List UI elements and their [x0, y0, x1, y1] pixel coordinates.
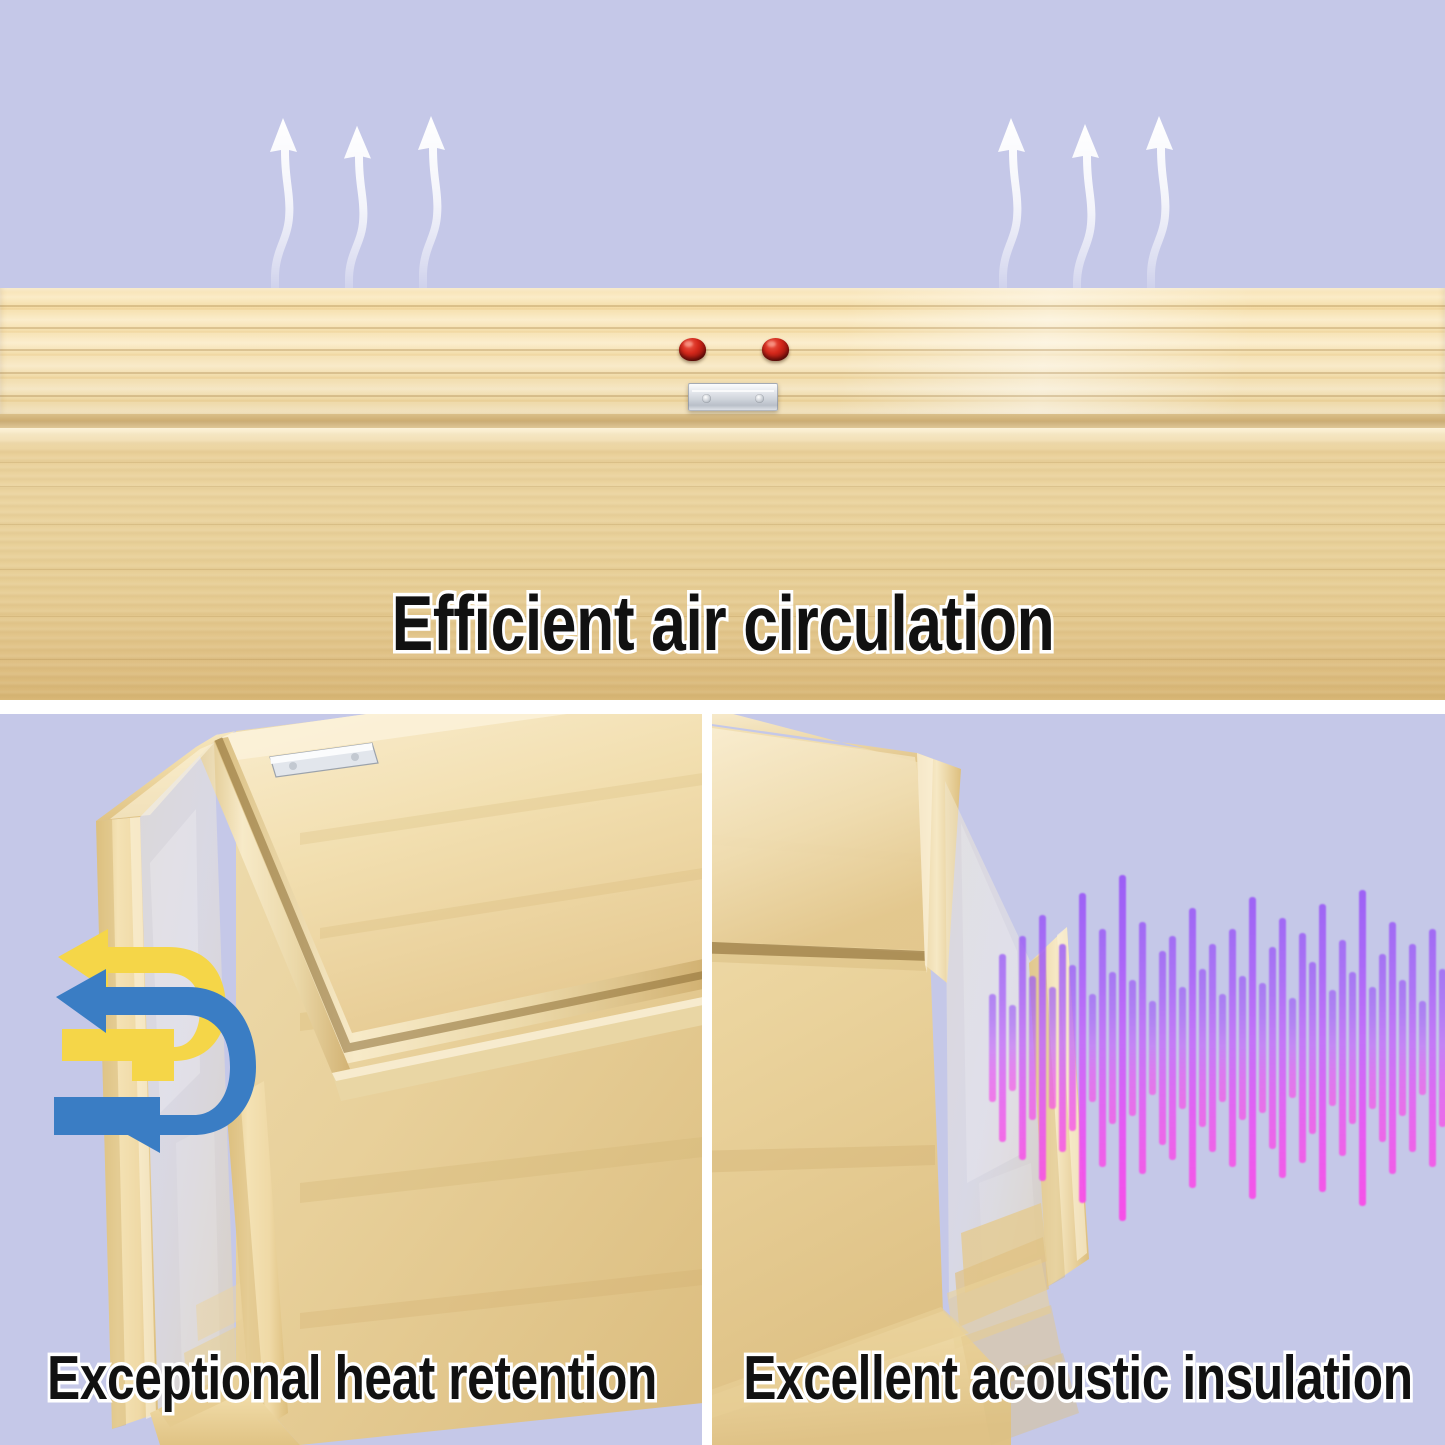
- sound-wave-bar: [1169, 936, 1176, 1159]
- heat-retention-caption: Exceptional heat retention: [47, 1343, 657, 1414]
- sound-wave-bar: [1069, 965, 1076, 1131]
- sound-wave-bar: [1129, 980, 1136, 1117]
- sound-wave-bar: [1349, 972, 1356, 1123]
- sound-wave-bar: [1019, 936, 1026, 1159]
- sound-wave-bar: [1159, 951, 1166, 1145]
- sound-wave-bar: [1209, 944, 1216, 1153]
- air-circulation-panel: Efficient air circulation: [0, 0, 1445, 703]
- sound-wave-bar: [1439, 969, 1445, 1127]
- sound-wave-bar: [1369, 987, 1376, 1109]
- sound-wave-bar: [1149, 1001, 1156, 1095]
- sound-wave-bar: [1009, 1005, 1016, 1091]
- red-led-indicator-icon: [762, 338, 789, 361]
- sound-wave-bar: [1319, 904, 1326, 1192]
- panel-divider-horizontal: [0, 700, 1445, 714]
- rising-air-arrow-icon: [340, 120, 374, 308]
- sound-wave-bar: [1429, 929, 1436, 1167]
- sound-wave-bar: [1419, 1001, 1426, 1095]
- sound-wave-bar: [1139, 922, 1146, 1174]
- sound-wave-bar: [989, 994, 996, 1102]
- red-led-indicator-icon: [679, 338, 706, 361]
- sound-wave-bar: [1039, 915, 1046, 1181]
- rising-air-arrow-icon: [994, 112, 1028, 307]
- sound-wave-bar: [1179, 987, 1186, 1109]
- sound-wave-bar: [1329, 990, 1336, 1105]
- sound-wave-bar: [1079, 893, 1086, 1203]
- sound-wave-bar: [1059, 944, 1066, 1153]
- sound-wave-bar: [1249, 897, 1256, 1199]
- sound-wave-bar: [1089, 994, 1096, 1102]
- rising-air-arrow-icon: [414, 110, 448, 305]
- sound-wave-bar: [1379, 954, 1386, 1141]
- sound-wave-bar: [1359, 890, 1366, 1207]
- metal-bracket-icon: [688, 383, 778, 411]
- sound-wave-icon: [989, 868, 1445, 1228]
- sound-wave-bar: [1259, 983, 1266, 1113]
- page-title: Efficient air circulation: [391, 578, 1054, 669]
- sound-wave-bar: [1109, 972, 1116, 1123]
- sound-wave-bar: [1229, 929, 1236, 1167]
- sound-wave-bar: [1409, 944, 1416, 1153]
- sound-wave-bar: [1389, 922, 1396, 1174]
- sound-wave-bar: [1099, 929, 1106, 1167]
- sound-wave-bar: [1299, 933, 1306, 1163]
- sound-wave-bar: [1339, 940, 1346, 1156]
- sound-wave-bar: [1399, 980, 1406, 1117]
- sound-wave-bar: [1279, 918, 1286, 1177]
- sound-wave-bar: [1309, 962, 1316, 1135]
- rising-air-arrow-icon: [1068, 118, 1102, 313]
- sound-wave-bar: [1119, 875, 1126, 1221]
- sound-wave-bar: [1049, 987, 1056, 1109]
- rising-air-arrow-icon: [266, 112, 300, 307]
- rising-air-arrow-icon: [1142, 110, 1176, 305]
- infographic-root: Efficient air circulation: [0, 0, 1445, 1445]
- heat-flow-arrows: [48, 921, 288, 1171]
- sound-wave-bar: [1219, 994, 1226, 1102]
- sound-wave-bar: [1199, 969, 1206, 1127]
- acoustic-insulation-panel: Excellent acoustic insulation: [711, 713, 1445, 1445]
- panel-divider-vertical: [702, 700, 712, 1445]
- sound-wave-bar: [1239, 976, 1246, 1120]
- sound-wave-bar: [1029, 976, 1036, 1120]
- acoustic-insulation-caption: Excellent acoustic insulation: [743, 1343, 1412, 1414]
- sound-wave-bar: [1269, 947, 1276, 1149]
- sound-wave-bar: [999, 954, 1006, 1141]
- airflow-arrow-group-right: [990, 112, 1230, 307]
- sound-wave-bar: [1189, 908, 1196, 1189]
- heat-retention-panel: Exceptional heat retention: [0, 713, 703, 1445]
- sound-wave-bar: [1289, 998, 1296, 1099]
- airflow-arrow-group-left: [262, 112, 502, 307]
